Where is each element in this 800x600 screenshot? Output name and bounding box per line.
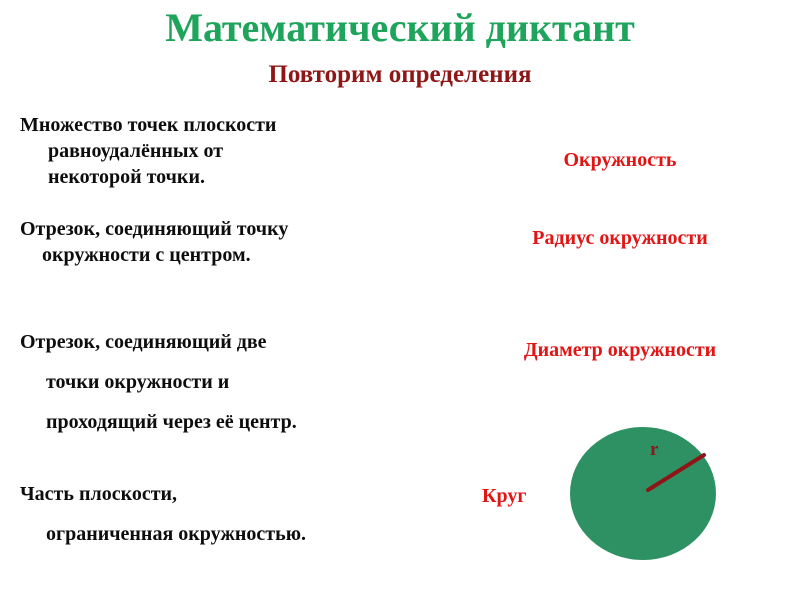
circle-diagram: r	[568, 425, 718, 565]
definition-line: равноудалённых от	[20, 138, 440, 164]
definition-line: Часть плоскости,	[20, 474, 440, 514]
definition-line: точки окружности и	[20, 362, 440, 402]
definition-block-4: Часть плоскости, ограниченная окружность…	[20, 474, 440, 554]
definition-line: Отрезок, соединяющий точку	[20, 216, 440, 242]
slide-canvas: Математический диктант Повторим определе…	[0, 0, 800, 600]
definition-block-2: Отрезок, соединяющий точку окружности с …	[20, 216, 440, 268]
definition-line: ограниченная окружностью.	[20, 514, 440, 554]
definition-line: окружности с центром.	[20, 242, 440, 268]
answer-label-diameter: Диаметр окружности	[470, 338, 770, 362]
definition-line: некоторой точки.	[20, 164, 440, 190]
definition-line: проходящий через её центр.	[20, 402, 440, 442]
radius-letter-label: r	[650, 440, 658, 460]
answer-label-radius: Радиус окружности	[470, 226, 770, 250]
page-title: Математический диктант	[0, 6, 800, 50]
definition-block-3: Отрезок, соединяющий две точки окружност…	[20, 322, 440, 442]
radius-line-icon	[568, 425, 718, 565]
page-subtitle: Повторим определения	[0, 60, 800, 90]
answer-label-disk: Круг	[482, 484, 526, 508]
definition-line: Отрезок, соединяющий две	[20, 322, 440, 362]
definition-block-1: Множество точек плоскости равноудалённых…	[20, 112, 440, 190]
definition-line: Множество точек плоскости	[20, 112, 440, 138]
answer-label-circumference: Окружность	[470, 148, 770, 172]
